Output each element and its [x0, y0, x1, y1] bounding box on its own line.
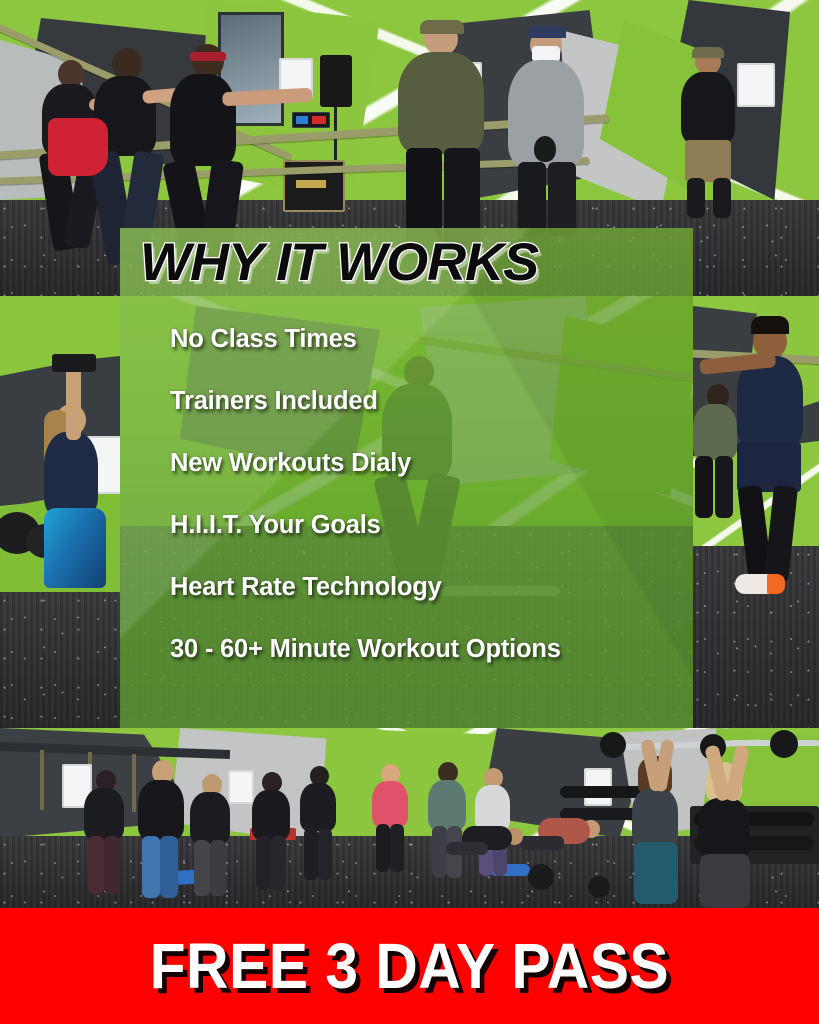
person-head	[192, 44, 224, 78]
photo-left-dumbbell-press	[0, 296, 120, 728]
suspension-strap	[40, 750, 44, 810]
person-torso	[252, 790, 290, 840]
benefits-list: No Class Times Trainers Included New Wor…	[170, 308, 710, 680]
person-legs	[304, 828, 318, 880]
person-legs	[256, 836, 271, 890]
person-legs	[687, 178, 705, 218]
shorts	[737, 442, 801, 492]
person-torso	[170, 74, 236, 166]
patterned-leggings	[44, 508, 106, 588]
person-torso	[84, 788, 124, 840]
person-legs	[88, 836, 104, 894]
person-legs	[142, 836, 160, 898]
list-item: No Class Times	[170, 308, 710, 370]
person-legs	[104, 836, 120, 894]
person-torso	[300, 783, 336, 831]
page-title: WHY IT WORKS	[140, 236, 711, 289]
sneaker-accent	[767, 574, 785, 594]
person-torso	[681, 72, 735, 144]
person-torso	[632, 788, 678, 846]
person-arm	[66, 362, 81, 440]
list-item: New Workouts Dialy	[170, 432, 710, 494]
person-exercising	[296, 766, 342, 884]
person-torso	[398, 52, 484, 154]
woman-overhead-press	[22, 380, 118, 600]
gym-floor-left	[0, 592, 120, 728]
person-masked-kettlebell	[500, 28, 596, 238]
person-legs	[520, 836, 564, 850]
bandana	[528, 26, 566, 38]
person-plank	[446, 822, 526, 872]
barbell-plate	[600, 732, 626, 758]
list-item: Heart Rate Technology	[170, 556, 710, 618]
person-exercising	[248, 772, 296, 892]
list-item: H.I.I.T. Your Goals	[170, 494, 710, 556]
person-legs	[548, 162, 576, 236]
person-legs	[715, 456, 733, 518]
person-legs	[518, 162, 546, 236]
person-legs	[318, 828, 332, 880]
trainer-standing	[388, 22, 498, 262]
pa-speaker	[320, 55, 352, 107]
cta-banner[interactable]: FREE 3 DAY PASS	[0, 908, 819, 1024]
person-legs	[210, 840, 226, 896]
person-plank	[520, 812, 600, 866]
camo-shorts	[685, 140, 731, 182]
hair	[751, 316, 789, 334]
person-torso	[190, 792, 230, 844]
person-legs	[376, 824, 390, 872]
red-jacket-on-person	[48, 118, 108, 176]
plyo-box-logo	[296, 180, 326, 188]
person-exercising	[132, 760, 192, 905]
kettlebell	[534, 136, 556, 162]
person-legs	[194, 840, 210, 896]
poster: WHY IT WORKS No Class Times Trainers Inc…	[0, 0, 819, 1024]
photo-bottom-group-workout	[0, 728, 819, 908]
cap	[692, 47, 724, 58]
cta-label: FREE 3 DAY PASS	[150, 929, 670, 1003]
dumbbell	[52, 354, 96, 372]
person-legs	[160, 836, 178, 898]
person-legs	[446, 842, 488, 855]
person-legs	[764, 485, 798, 583]
person-legs	[271, 836, 286, 890]
timer-digits	[296, 116, 308, 124]
person-legs	[390, 824, 404, 872]
cap	[420, 20, 464, 34]
person-legs	[432, 826, 447, 878]
red-headband	[190, 52, 226, 61]
leggings	[700, 854, 750, 908]
person-torso	[698, 798, 750, 858]
person-torso	[138, 780, 184, 840]
person-exercising	[78, 770, 130, 900]
leggings	[634, 842, 678, 904]
woman-barbell-press	[690, 762, 758, 908]
barbell-plate	[770, 730, 798, 758]
timer-digits	[312, 116, 326, 124]
person-exercising	[186, 774, 236, 900]
person-torso	[372, 781, 408, 827]
person-exercising	[368, 764, 414, 876]
person-standing-background	[673, 48, 743, 218]
person-torso	[44, 432, 98, 516]
medicine-ball	[588, 876, 610, 898]
woman-barbell-press	[624, 756, 686, 906]
person-legs	[713, 178, 731, 218]
photo-right-band-row	[693, 296, 819, 728]
list-item: 30 - 60+ Minute Workout Options	[170, 618, 710, 680]
medicine-ball	[528, 864, 554, 890]
list-item: Trainers Included	[170, 370, 710, 432]
